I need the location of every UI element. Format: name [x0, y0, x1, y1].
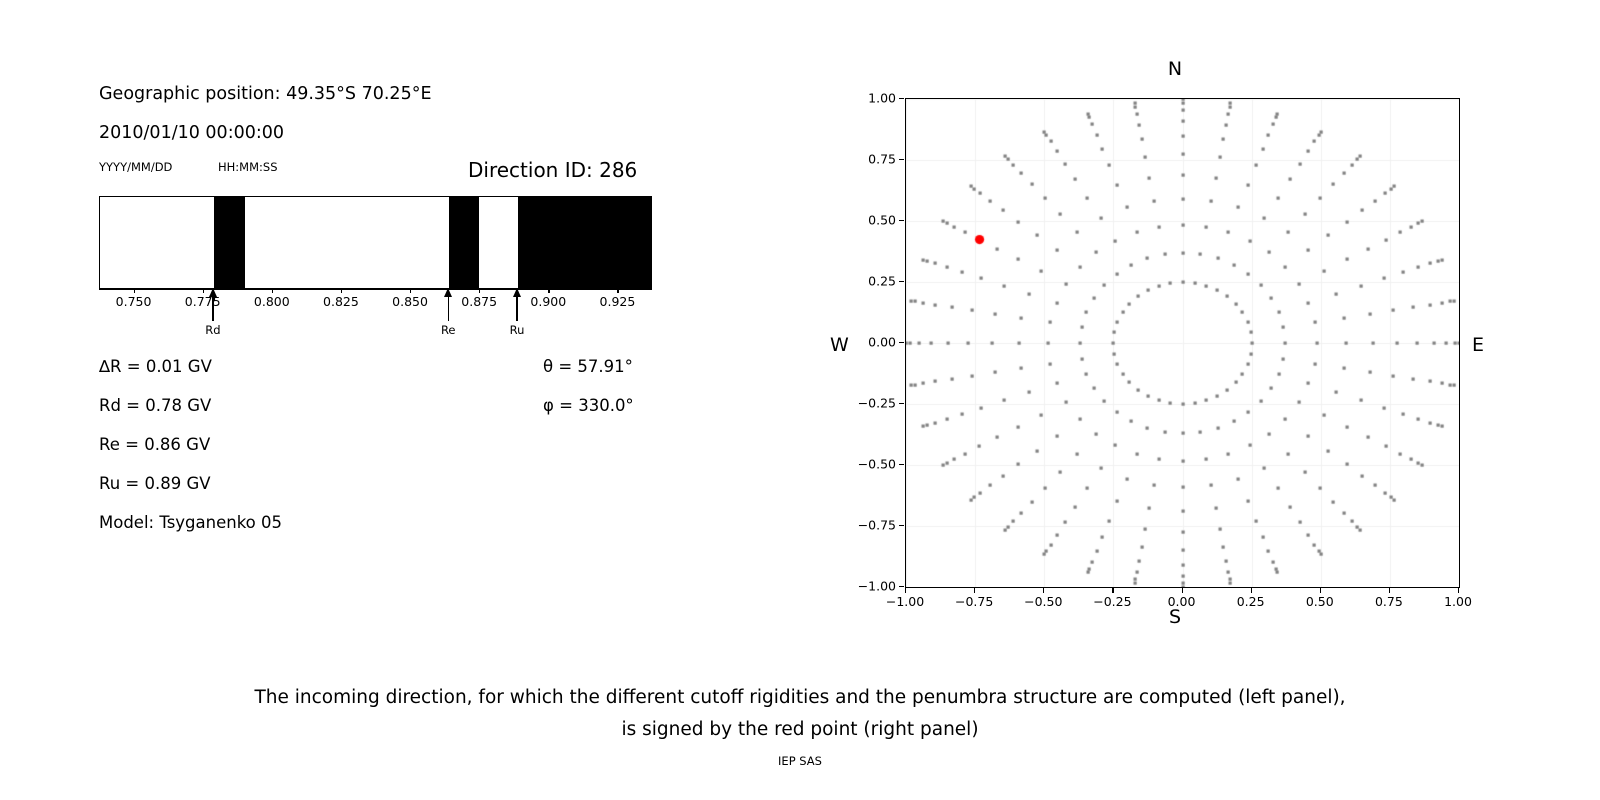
direction-map-x-tick-label: −0.50: [1024, 594, 1062, 609]
param-model: Model: Tsyganenko 05: [99, 513, 282, 532]
direction-map-y-tick-label: −1.00: [858, 579, 896, 594]
penumbra-tick-label: 0.750: [116, 294, 152, 309]
direction-map-x-tick-label: 0.75: [1375, 594, 1403, 609]
penumbra-forbidden-band: [449, 197, 479, 288]
direction-map-y-tick-label: 0.00: [868, 335, 896, 350]
param-phi: φ = 330.0°: [543, 396, 634, 415]
direction-map-y-tick: [899, 220, 904, 221]
footer-credit: IEP SAS: [0, 754, 1600, 768]
direction-map-x-tick-label: −0.25: [1093, 594, 1131, 609]
direction-map-y-tick-label: −0.50: [858, 457, 896, 472]
direction-map-x-tick-label: 0.00: [1168, 594, 1196, 609]
penumbra-axis-line: [99, 289, 652, 290]
direction-map-y-tick: [899, 281, 904, 282]
penumbra-tick-label: 0.850: [392, 294, 428, 309]
direction-map-x-tick-label: 0.50: [1306, 594, 1334, 609]
direction-map-y-tick-label: −0.25: [858, 396, 896, 411]
compass-label-west: W: [830, 334, 849, 356]
direction-map-x-tick-label: 1.00: [1444, 594, 1472, 609]
compass-label-north: N: [1168, 58, 1182, 80]
direction-map-panel: N S W E −1.00−0.75−0.50−0.250.000.250.50…: [820, 40, 1520, 660]
marker-label: Rd: [205, 323, 220, 337]
param-rd: Rd = 0.78 GV: [99, 396, 211, 415]
direction-map-x-tick-label: −1.00: [886, 594, 924, 609]
penumbra-tick-label: 0.925: [600, 294, 636, 309]
date-format-hint: YYYY/MM/DD: [99, 160, 172, 174]
penumbra-bar: [99, 196, 652, 289]
direction-map-y-tick: [899, 98, 904, 99]
penumbra-tick: [341, 289, 342, 293]
marker-arrow-icon: [209, 288, 217, 297]
penumbra-tick-label: 0.900: [530, 294, 566, 309]
penumbra-tick: [203, 289, 204, 293]
param-delta-r: ∆R = 0.01 GV: [99, 357, 212, 376]
penumbra-tick: [410, 289, 411, 293]
caption-line-1: The incoming direction, for which the di…: [0, 682, 1600, 714]
direction-map-x-tick: [1043, 588, 1044, 593]
geographic-position-label: Geographic position: 49.35°S 70.25°E: [99, 84, 432, 104]
direction-map-x-tick: [974, 588, 975, 593]
direction-map-x-tick: [1251, 588, 1252, 593]
direction-map-canvas: [906, 99, 1459, 587]
direction-map-y-tick-label: −0.75: [858, 518, 896, 533]
compass-label-east: E: [1472, 334, 1484, 356]
time-format-hint: HH:MM:SS: [218, 160, 278, 174]
direction-map-x-tick: [1182, 588, 1183, 593]
param-theta: θ = 57.91°: [543, 357, 633, 376]
direction-map-plot: [905, 98, 1460, 588]
penumbra-tick: [134, 289, 135, 293]
compass-label-south: S: [1169, 606, 1181, 628]
direction-map-y-tick: [899, 342, 904, 343]
marker-arrow-icon: [444, 288, 452, 297]
direction-map-y-tick: [899, 525, 904, 526]
direction-map-y-tick: [899, 586, 904, 587]
penumbra-tick: [479, 289, 480, 293]
penumbra-tick: [272, 289, 273, 293]
penumbra-tick: [617, 289, 618, 293]
penumbra-bar-wrapper: [99, 196, 652, 289]
direction-map-y-tick-label: 0.25: [868, 274, 896, 289]
direction-map-x-tick-label: 0.25: [1237, 594, 1265, 609]
direction-map-y-tick: [899, 159, 904, 160]
marker-label: Ru: [510, 323, 525, 337]
param-re: Re = 0.86 GV: [99, 435, 210, 454]
penumbra-tick-label: 0.875: [461, 294, 497, 309]
direction-map-x-tick: [1112, 588, 1113, 593]
datetime-label: 2010/01/10 00:00:00: [99, 123, 284, 143]
caption-line-2: is signed by the red point (right panel): [0, 714, 1600, 746]
direction-map-x-tick: [1389, 588, 1390, 593]
penumbra-forbidden-band: [214, 197, 245, 288]
direction-map-x-tick: [905, 588, 906, 593]
direction-map-y-tick: [899, 464, 904, 465]
figure-caption: The incoming direction, for which the di…: [0, 682, 1600, 746]
penumbra-forbidden-band: [518, 197, 652, 288]
direction-map-x-tick: [1320, 588, 1321, 593]
direction-map-x-tick-label: −0.75: [955, 594, 993, 609]
direction-id-label: Direction ID: 286: [468, 158, 637, 182]
direction-map-y-tick-label: 0.50: [868, 213, 896, 228]
direction-map-x-tick: [1458, 588, 1459, 593]
marker-arrow-icon: [513, 288, 521, 297]
penumbra-axis: 0.7500.7750.8000.8250.8500.8750.9000.925…: [99, 289, 652, 347]
param-ru: Ru = 0.89 GV: [99, 474, 211, 493]
direction-map-y-tick-label: 0.75: [868, 152, 896, 167]
direction-map-y-tick-label: 1.00: [868, 91, 896, 106]
penumbra-tick-label: 0.800: [254, 294, 290, 309]
marker-label: Re: [441, 323, 456, 337]
penumbra-tick: [548, 289, 549, 293]
penumbra-tick-label: 0.825: [323, 294, 359, 309]
direction-map-y-tick: [899, 403, 904, 404]
penumbra-panel: Geographic position: 49.35°S 70.25°E 201…: [0, 0, 760, 660]
